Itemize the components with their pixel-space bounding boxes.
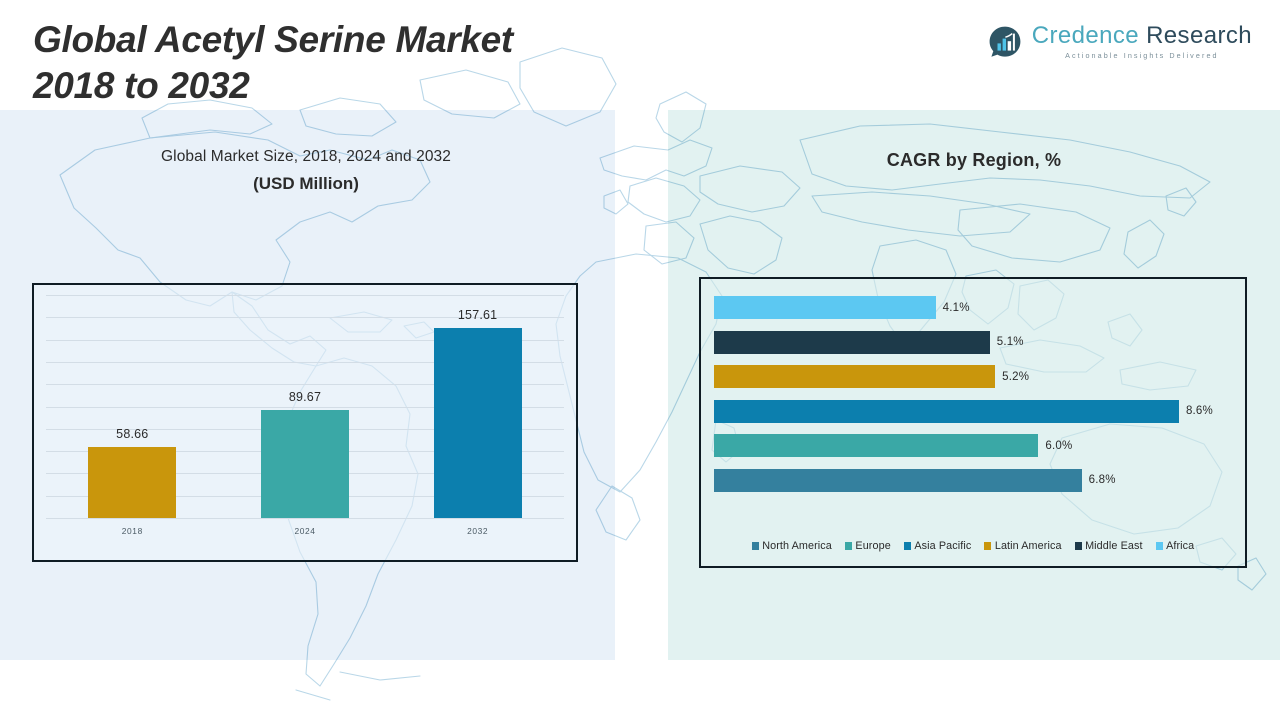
legend-label: North America: [762, 540, 832, 552]
legend-item[interactable]: Middle East: [1075, 540, 1143, 552]
legend-label: Middle East: [1085, 540, 1143, 552]
right-chart-title: CAGR by Region, %: [700, 150, 1248, 171]
bar-row: 5.2%: [714, 365, 1233, 388]
legend-swatch: [1075, 542, 1082, 550]
cagr-by-region-bar-chart: 4.1%5.1%5.2%8.6%6.0%6.8% North AmericaEu…: [699, 277, 1247, 568]
horizontal-bar: [714, 400, 1179, 423]
left-chart-plot-area: 58.6689.67157.61: [46, 295, 564, 518]
legend-label: Latin America: [995, 540, 1062, 552]
left-chart-title: Global Market Size, 2018, 2024 and 2032: [33, 148, 579, 166]
bar-value-label: 6.0%: [1045, 440, 1072, 452]
legend-swatch: [904, 542, 911, 550]
market-size-column-chart: 58.6689.67157.61 201820242032: [32, 283, 578, 562]
legend-item[interactable]: North America: [752, 540, 832, 552]
bar-value-label: 5.2%: [1002, 371, 1029, 383]
x-axis-tick-label: 2024: [219, 526, 392, 546]
column-bar: [261, 410, 349, 518]
page-title: Global Acetyl Serine Market 2018 to 2032: [33, 17, 673, 108]
bar-value-label: 4.1%: [943, 302, 970, 314]
horizontal-bar: [714, 331, 990, 354]
bar-row: 5.1%: [714, 331, 1233, 354]
logo-text: Credence Research Actionable Insights De…: [1032, 24, 1252, 59]
logo-name: Credence Research: [1032, 24, 1252, 48]
right-chart-heading: CAGR by Region, %: [700, 150, 1248, 171]
right-chart-legend: North AmericaEuropeAsia PacificLatin Ame…: [701, 540, 1245, 552]
bar-row: 4.1%: [714, 296, 1233, 319]
bar-row: 6.0%: [714, 434, 1233, 457]
column-bar-group: 89.67: [219, 295, 392, 518]
horizontal-bar: [714, 434, 1038, 457]
left-chart-x-axis: 201820242032: [46, 526, 564, 546]
x-axis-tick-label: 2032: [391, 526, 564, 546]
brand-logo: Credence Research Actionable Insights De…: [987, 24, 1252, 60]
legend-label: Asia Pacific: [914, 540, 971, 552]
column-value-label: 157.61: [458, 308, 497, 322]
bar-value-label: 5.1%: [997, 336, 1024, 348]
bar-row: 8.6%: [714, 400, 1233, 423]
legend-swatch: [845, 542, 852, 550]
column-bar-group: 58.66: [46, 295, 219, 518]
legend-swatch: [984, 542, 991, 550]
left-chart-heading: Global Market Size, 2018, 2024 and 2032 …: [33, 148, 579, 194]
horizontal-bar: [714, 296, 936, 319]
chart-bubble-icon: [987, 24, 1023, 60]
bar-value-label: 8.6%: [1186, 405, 1213, 417]
legend-item[interactable]: Africa: [1156, 540, 1195, 552]
bar-value-label: 6.8%: [1089, 474, 1116, 486]
gridline: [46, 518, 564, 519]
left-chart-subtitle: (USD Million): [33, 174, 579, 194]
column-value-label: 58.66: [116, 427, 148, 441]
logo-tagline: Actionable Insights Delivered: [1032, 52, 1252, 59]
bar-row: 6.8%: [714, 469, 1233, 492]
legend-item[interactable]: Europe: [845, 540, 891, 552]
legend-item[interactable]: Asia Pacific: [904, 540, 972, 552]
column-bar: [88, 447, 176, 518]
column-bar: [434, 328, 522, 518]
x-axis-tick-label: 2018: [46, 526, 219, 546]
column-value-label: 89.67: [289, 390, 321, 404]
legend-swatch: [1156, 542, 1163, 550]
logo-name-part1: Credence: [1032, 22, 1139, 49]
right-chart-plot-area: 4.1%5.1%5.2%8.6%6.0%6.8%: [714, 296, 1233, 492]
legend-item[interactable]: Latin America: [984, 540, 1061, 552]
legend-label: Europe: [855, 540, 890, 552]
horizontal-bar: [714, 365, 995, 388]
column-bar-group: 157.61: [391, 295, 564, 518]
legend-label: Africa: [1166, 540, 1194, 552]
legend-swatch: [752, 542, 759, 550]
horizontal-bar: [714, 469, 1082, 492]
logo-name-part2: Research: [1146, 22, 1252, 49]
